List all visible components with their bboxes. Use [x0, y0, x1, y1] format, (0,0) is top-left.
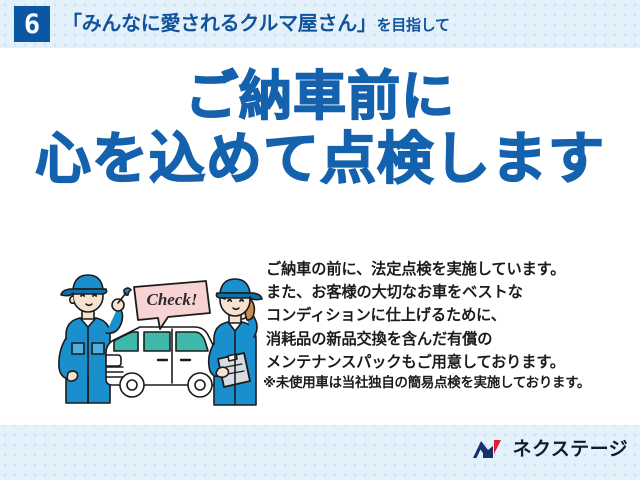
description-line: 消耗品の新品交換を含んだ有償の: [266, 328, 630, 351]
header-title-sub: を目指して: [377, 17, 450, 34]
brand-name-text: ネクステージ: [513, 440, 628, 459]
description-line: また、お客様の大切なお車をベストな: [266, 281, 630, 304]
header-title-main: 「みんなに愛されるクルマ屋さん」: [62, 13, 377, 35]
van-figure: [106, 327, 220, 397]
promo-banner: 6 「みんなに愛されるクルマ屋さん」を目指して ご納車前に 心を込めて点検します: [0, 0, 640, 480]
nextage-n-icon: [472, 437, 506, 461]
header-title: 「みんなに愛されるクルマ屋さん」を目指して: [62, 14, 450, 34]
description-line: メンテナンスパックもご用意しております。: [266, 351, 630, 374]
description-line: コンディションに仕上げるために、: [266, 304, 630, 327]
banner-header: 6 「みんなに愛されるクルマ屋さん」を目指して: [0, 0, 640, 48]
page-title: ご納車前に 心を込めて点検します: [0, 70, 640, 187]
description-line: ご納車の前に、法定点検を実施しています。: [266, 258, 630, 281]
page-title-line-1: ご納車前に: [0, 70, 640, 124]
description-paragraph: ご納車の前に、法定点検を実施しています。 また、お客様の大切なお車をベストな コ…: [266, 258, 630, 374]
page-title-line-2: 心を込めて点検します: [0, 130, 640, 187]
speech-bubble-label: Check!: [147, 290, 198, 309]
section-number-badge: 6: [14, 6, 50, 42]
disclaimer-note: ※未使用車は当社独自の簡易点検を実施しております。: [263, 375, 633, 391]
content-card: ご納車前に 心を込めて点検します: [0, 48, 640, 425]
mechanics-illustration: Check!: [48, 263, 263, 411]
mechanic-right-figure: [209, 279, 262, 405]
banner-footer: ネクステージ: [0, 425, 640, 480]
brand-logo: ネクステージ: [472, 437, 628, 461]
